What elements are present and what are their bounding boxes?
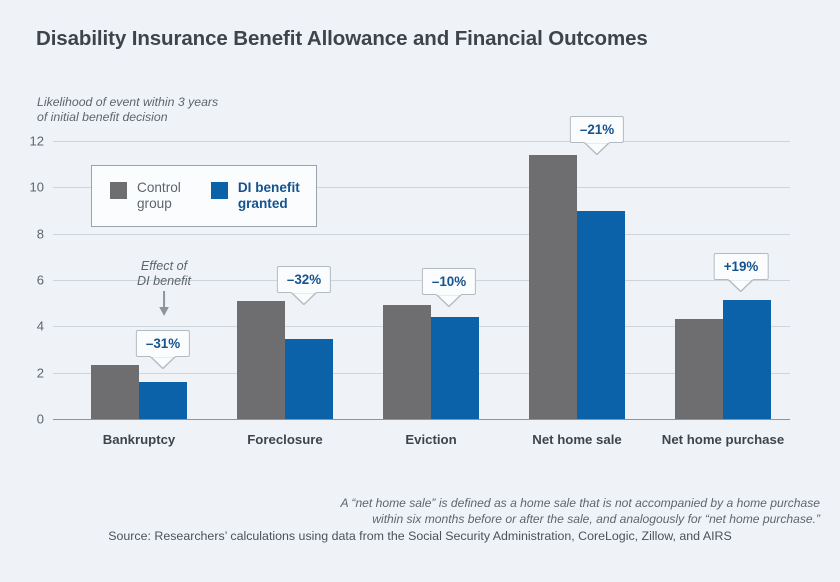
callout-foreclosure: –32% — [277, 266, 331, 293]
effect-annotation: Effect of DI benefit — [137, 259, 191, 317]
callout-bankruptcy-label: –31% — [136, 330, 190, 357]
effect-annotation-label: Effect of DI benefit — [137, 259, 191, 289]
legend-label-treated: DI benefit granted — [238, 180, 300, 212]
bar-control-net-home-purchase — [675, 319, 723, 419]
callout-tail-icon — [584, 142, 610, 155]
x-axis-label-net-home-purchase: Net home purchase — [662, 432, 784, 447]
callout-net-home-purchase-label: +19% — [714, 253, 769, 280]
bar-control-eviction — [383, 305, 431, 419]
bar-treated-net-home-sale — [577, 211, 625, 420]
legend-item-di-benefit-granted: DI benefit granted — [211, 180, 300, 212]
y-tick-label-12: 12 — [30, 134, 44, 149]
y-tick-label-6: 6 — [37, 273, 44, 288]
arrow-down-icon — [157, 291, 171, 317]
bar-treated-eviction — [431, 317, 479, 419]
x-axis-label-eviction: Eviction — [405, 432, 456, 447]
callout-eviction-label: –10% — [422, 268, 476, 295]
x-axis-label-foreclosure: Foreclosure — [247, 432, 323, 447]
callout-eviction: –10% — [422, 268, 476, 295]
gridline-0-baseline: 0 — [53, 419, 790, 420]
callout-bankruptcy: –31% — [136, 330, 190, 357]
legend-item-control: Control group — [110, 180, 181, 212]
y-tick-label-8: 8 — [37, 226, 44, 241]
y-tick-label-4: 4 — [37, 319, 44, 334]
page-title: Disability Insurance Benefit Allowance a… — [36, 27, 648, 51]
bar-treated-foreclosure — [285, 339, 333, 419]
x-axis-label-net-home-sale: Net home sale — [532, 432, 621, 447]
chart-legend: Control group DI benefit granted — [91, 165, 317, 227]
footnote-note: A “net home sale” is defined as a home s… — [120, 496, 820, 527]
callout-foreclosure-label: –32% — [277, 266, 331, 293]
bar-control-bankruptcy — [91, 365, 139, 419]
footnote-source: Source: Researchers’ calculations using … — [20, 529, 820, 543]
y-axis-caption: Likelihood of event within 3 years of in… — [37, 95, 218, 124]
x-axis-label-bankruptcy: Bankruptcy — [103, 432, 176, 447]
y-tick-label-10: 10 — [30, 180, 44, 195]
bar-treated-net-home-purchase — [723, 300, 771, 419]
y-tick-label-2: 2 — [37, 365, 44, 380]
bar-control-foreclosure — [237, 301, 285, 419]
callout-tail-icon — [150, 356, 176, 369]
bar-control-net-home-sale — [529, 155, 577, 419]
legend-swatch-control-icon — [110, 182, 127, 199]
callout-net-home-purchase: +19% — [714, 253, 769, 280]
legend-swatch-treated-icon — [211, 182, 228, 199]
callout-net-home-sale-label: –21% — [570, 116, 624, 143]
bar-treated-bankruptcy — [139, 382, 187, 419]
callout-tail-icon — [728, 279, 754, 292]
gridline-8: 8 — [53, 234, 790, 235]
y-tick-label-0: 0 — [37, 412, 44, 427]
callout-net-home-sale: –21% — [570, 116, 624, 143]
legend-label-control: Control group — [137, 180, 181, 212]
callout-tail-icon — [436, 294, 462, 307]
gridline-12: 12 — [53, 141, 790, 142]
chart-container: Disability Insurance Benefit Allowance a… — [0, 0, 840, 582]
callout-tail-icon — [291, 292, 317, 305]
